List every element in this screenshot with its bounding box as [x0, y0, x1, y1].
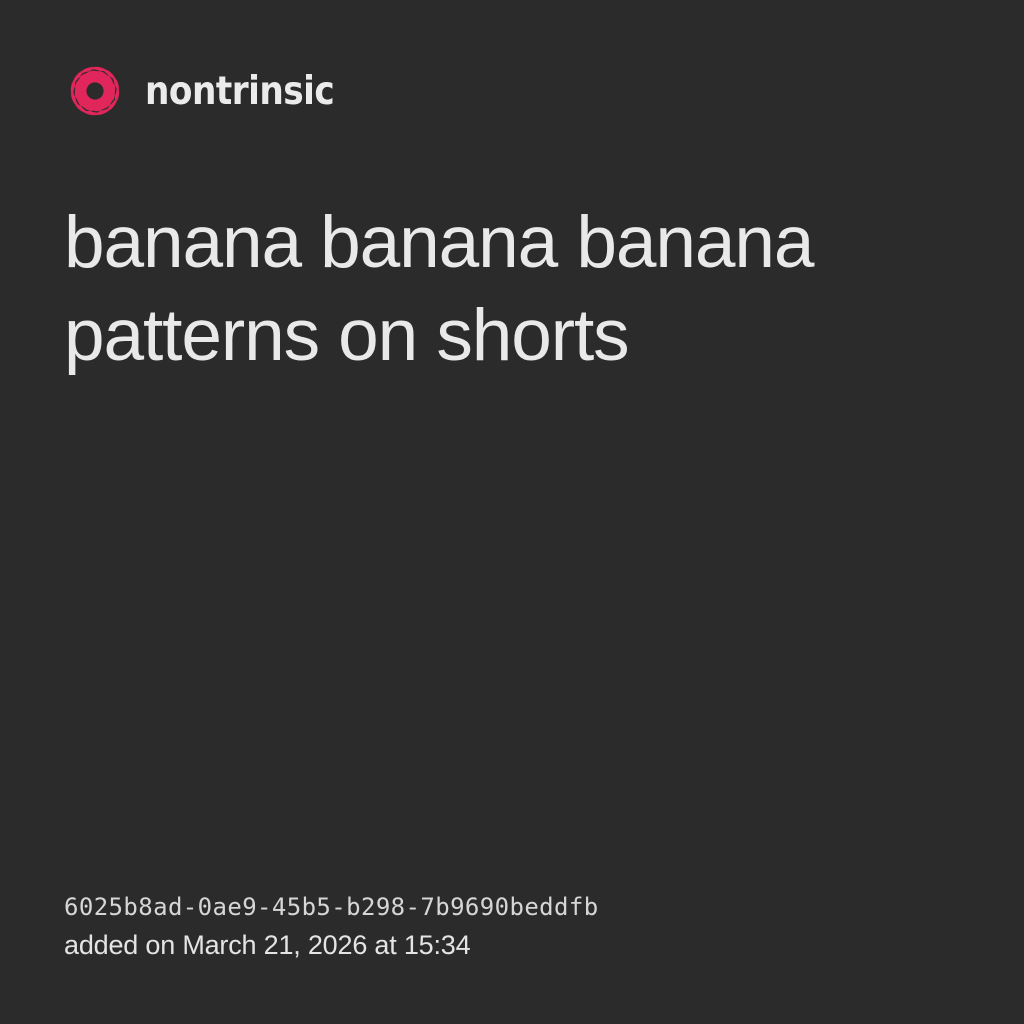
added-timestamp: added on March 21, 2026 at 15:34: [64, 928, 599, 962]
brand-header[interactable]: nontrinsic: [62, 58, 360, 124]
page-title: banana banana banana patterns on shorts: [64, 196, 894, 382]
page-root: nontrinsic banana banana banana patterns…: [0, 0, 1024, 1024]
meta-footer: 6025b8ad-0ae9-45b5-b298-7b9690beddfb add…: [64, 892, 599, 962]
brand-wordmark: nontrinsic: [145, 72, 334, 111]
record-uuid: 6025b8ad-0ae9-45b5-b298-7b9690beddfb: [64, 892, 599, 922]
pinwheel-swirl-icon: [62, 58, 128, 124]
